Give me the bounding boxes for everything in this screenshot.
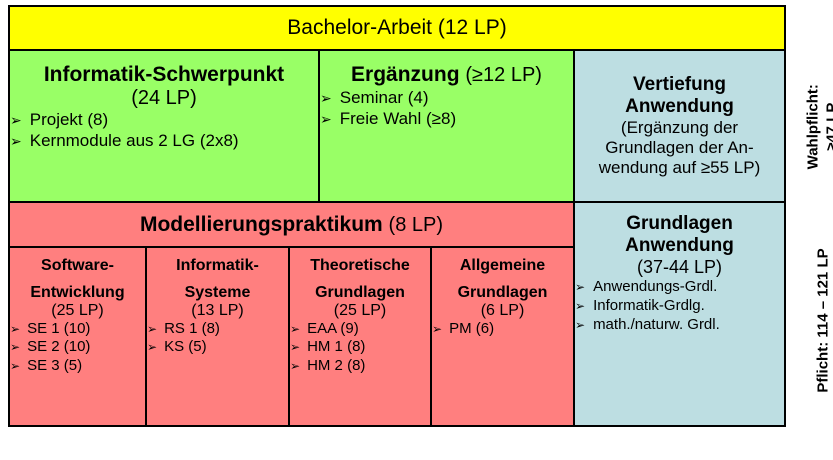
ergaenzung-list: ➢ Seminar (4) ➢ Freie Wahl (≥8) [320, 87, 573, 130]
list-item: ➢ RS 1 (8) [147, 320, 288, 339]
list-item-label: SE 3 (5) [27, 357, 82, 376]
list-item: ➢ SE 1 (10) [10, 320, 145, 339]
vertiefung-anwendung-title-line2: Anwendung [625, 96, 734, 118]
side-label-wahlpflicht-line1: Wahlpflicht: [804, 52, 823, 202]
side-label-wahlpflicht: Wahlpflicht: ≥47 LP [804, 52, 833, 202]
grundlagen-anwendung-cell: Grundlagen Anwendung (37-44 LP) ➢ Anwend… [575, 203, 784, 425]
list-item: ➢ HM 2 (8) [290, 357, 430, 376]
software-entwicklung-credits: (25 LP) [10, 302, 145, 320]
ergaenzung-title: Ergänzung [351, 63, 460, 86]
software-entwicklung-cell: Software- Entwicklung (25 LP) ➢ SE 1 (10… [10, 248, 147, 425]
list-item-label: Seminar (4) [340, 87, 429, 108]
side-label-wahlpflicht-line2: ≥47 LP [823, 52, 833, 202]
grundlagen-anwendung-credits: (37-44 LP) [575, 257, 784, 279]
list-item: ➢ HM 1 (8) [290, 338, 430, 357]
side-label-pflicht: Pflicht: 114 – 121 LP [815, 221, 832, 421]
informatik-systeme-list: ➢ RS 1 (8) ➢ KS (5) [147, 320, 288, 358]
list-item-label: Anwendungs-Grdl. [593, 278, 717, 297]
bullet-arrow-icon: ➢ [575, 281, 585, 293]
modellierungspraktikum-title: Modellierungspraktikum [140, 213, 383, 236]
list-item-label: Projekt (8) [30, 109, 108, 130]
ergaenzung-heading: Ergänzung (≥12 LP) [320, 63, 573, 87]
bullet-arrow-icon: ➢ [10, 341, 20, 353]
bullet-arrow-icon: ➢ [432, 323, 442, 335]
allgemeine-grundlagen-list: ➢ PM (6) [432, 320, 573, 339]
bullet-arrow-icon: ➢ [290, 360, 300, 372]
list-item: ➢ Kernmodule aus 2 LG (2x8) [10, 130, 318, 151]
list-item-label: Kernmodule aus 2 LG (2x8) [30, 130, 239, 151]
elective-band: Informatik-Schwerpunkt (24 LP) ➢ Projekt… [10, 51, 784, 203]
informatik-systeme-credits: (13 LP) [147, 302, 288, 320]
bullet-arrow-icon: ➢ [10, 360, 20, 372]
allgemeine-grundlagen-title-line2: Grundlagen [432, 284, 573, 302]
theoretische-grundlagen-title-line2: Grundlagen [290, 284, 430, 302]
modellierungspraktikum-credits: (8 LP) [389, 214, 443, 236]
bachelor-thesis-label: Bachelor-Arbeit (12 LP) [287, 16, 506, 39]
informatik-schwerpunkt-credits: (24 LP) [10, 87, 318, 109]
theoretische-grundlagen-list: ➢ EAA (9) ➢ HM 1 (8) ➢ HM 2 (8) [290, 320, 430, 376]
list-item: ➢ SE 3 (5) [10, 357, 145, 376]
informatik-systeme-cell: Informatik- Systeme (13 LP) ➢ RS 1 (8) ➢… [147, 248, 290, 425]
theoretische-grundlagen-cell: Theoretische Grundlagen (25 LP) ➢ EAA (9… [290, 248, 432, 425]
list-item-label: PM (6) [449, 320, 494, 339]
list-item: ➢ Projekt (8) [10, 109, 318, 130]
list-item-label: KS (5) [164, 338, 207, 357]
bullet-arrow-icon: ➢ [575, 319, 585, 331]
ergaenzung-cell: Ergänzung (≥12 LP) ➢ Seminar (4) ➢ Freie… [320, 51, 575, 201]
software-entwicklung-title-line2: Entwicklung [10, 284, 145, 302]
informatik-schwerpunkt-list: ➢ Projekt (8) ➢ Kernmodule aus 2 LG (2x8… [10, 109, 318, 152]
bullet-arrow-icon: ➢ [147, 341, 157, 353]
list-item: ➢ Anwendungs-Grdl. [575, 278, 784, 297]
vertiefung-anwendung-note-line1: (Ergänzung der [617, 118, 742, 138]
list-item: ➢ Freie Wahl (≥8) [320, 108, 573, 129]
list-item-label: RS 1 (8) [164, 320, 220, 339]
allgemeine-grundlagen-title-line1: Allgemeine [432, 257, 573, 275]
allgemeine-grundlagen-cell: Allgemeine Grundlagen (6 LP) ➢ PM (6) [432, 248, 573, 425]
software-entwicklung-title-line1: Software- [10, 257, 145, 275]
list-item-label: Informatik-Grdlg. [593, 297, 705, 316]
bullet-arrow-icon: ➢ [10, 134, 22, 148]
list-item: ➢ PM (6) [432, 320, 573, 339]
bullet-arrow-icon: ➢ [10, 323, 20, 335]
list-item: ➢ Seminar (4) [320, 87, 573, 108]
informatik-schwerpunkt-title: Informatik-Schwerpunkt [10, 63, 318, 87]
vertiefung-anwendung-cell: Vertiefung Anwendung (Ergänzung der Grun… [575, 51, 784, 201]
allgemeine-grundlagen-credits: (6 LP) [432, 302, 573, 320]
software-entwicklung-list: ➢ SE 1 (10) ➢ SE 2 (10) ➢ SE 3 (5) [10, 320, 145, 376]
list-item: ➢ Informatik-Grdlg. [575, 297, 784, 316]
compulsory-band: Modellierungspraktikum (8 LP) Software- … [10, 203, 784, 425]
list-item: ➢ SE 2 (10) [10, 338, 145, 357]
bullet-arrow-icon: ➢ [320, 91, 332, 105]
list-item-label: SE 1 (10) [27, 320, 90, 339]
grundlagen-anwendung-list: ➢ Anwendungs-Grdl. ➢ Informatik-Grdlg. ➢… [575, 278, 784, 334]
curriculum-diagram: Bachelor-Arbeit (12 LP) Informatik-Schwe… [0, 0, 833, 460]
theoretische-grundlagen-title-line1: Theoretische [290, 257, 430, 275]
bullet-arrow-icon: ➢ [320, 112, 332, 126]
list-item-label: Freie Wahl (≥8) [340, 108, 456, 129]
vertiefung-anwendung-title-line1: Vertiefung [633, 74, 726, 96]
modellierungspraktikum-section: Modellierungspraktikum (8 LP) Software- … [10, 203, 575, 425]
bullet-arrow-icon: ➢ [147, 323, 157, 335]
list-item-label: SE 2 (10) [27, 338, 90, 357]
modellierungspraktikum-heading: Modellierungspraktikum (8 LP) [140, 213, 443, 237]
bullet-arrow-icon: ➢ [290, 323, 300, 335]
informatik-systeme-title-line2: Systeme [147, 284, 288, 302]
list-item: ➢ EAA (9) [290, 320, 430, 339]
grundlagen-anwendung-title-line1: Grundlagen [575, 213, 784, 235]
informatik-systeme-title-line1: Informatik- [147, 257, 288, 275]
list-item: ➢ KS (5) [147, 338, 288, 357]
bullet-arrow-icon: ➢ [575, 300, 585, 312]
informatik-schwerpunkt-cell: Informatik-Schwerpunkt (24 LP) ➢ Projekt… [10, 51, 320, 201]
ergaenzung-credits: (≥12 LP) [465, 64, 542, 86]
list-item: ➢ math./naturw. Grdl. [575, 316, 784, 335]
bullet-arrow-icon: ➢ [10, 113, 22, 127]
vertiefung-anwendung-note-line3: wendung auf ≥55 LP) [595, 158, 765, 178]
curriculum-table: Bachelor-Arbeit (12 LP) Informatik-Schwe… [8, 5, 786, 427]
grundlagen-anwendung-heading: Grundlagen Anwendung (37-44 LP) [575, 213, 784, 278]
bachelor-thesis-cell: Bachelor-Arbeit (12 LP) [10, 7, 784, 51]
list-item-label: EAA (9) [307, 320, 359, 339]
bullet-arrow-icon: ➢ [290, 341, 300, 353]
vertiefung-anwendung-note-line2: Grundlagen der An- [601, 138, 757, 158]
list-item-label: HM 1 (8) [307, 338, 365, 357]
grundlagen-anwendung-title-line2: Anwendung [575, 235, 784, 257]
modellierungspraktikum-header: Modellierungspraktikum (8 LP) [10, 203, 573, 248]
list-item-label: math./naturw. Grdl. [593, 316, 720, 335]
list-item-label: HM 2 (8) [307, 357, 365, 376]
theoretische-grundlagen-credits: (25 LP) [290, 302, 430, 320]
